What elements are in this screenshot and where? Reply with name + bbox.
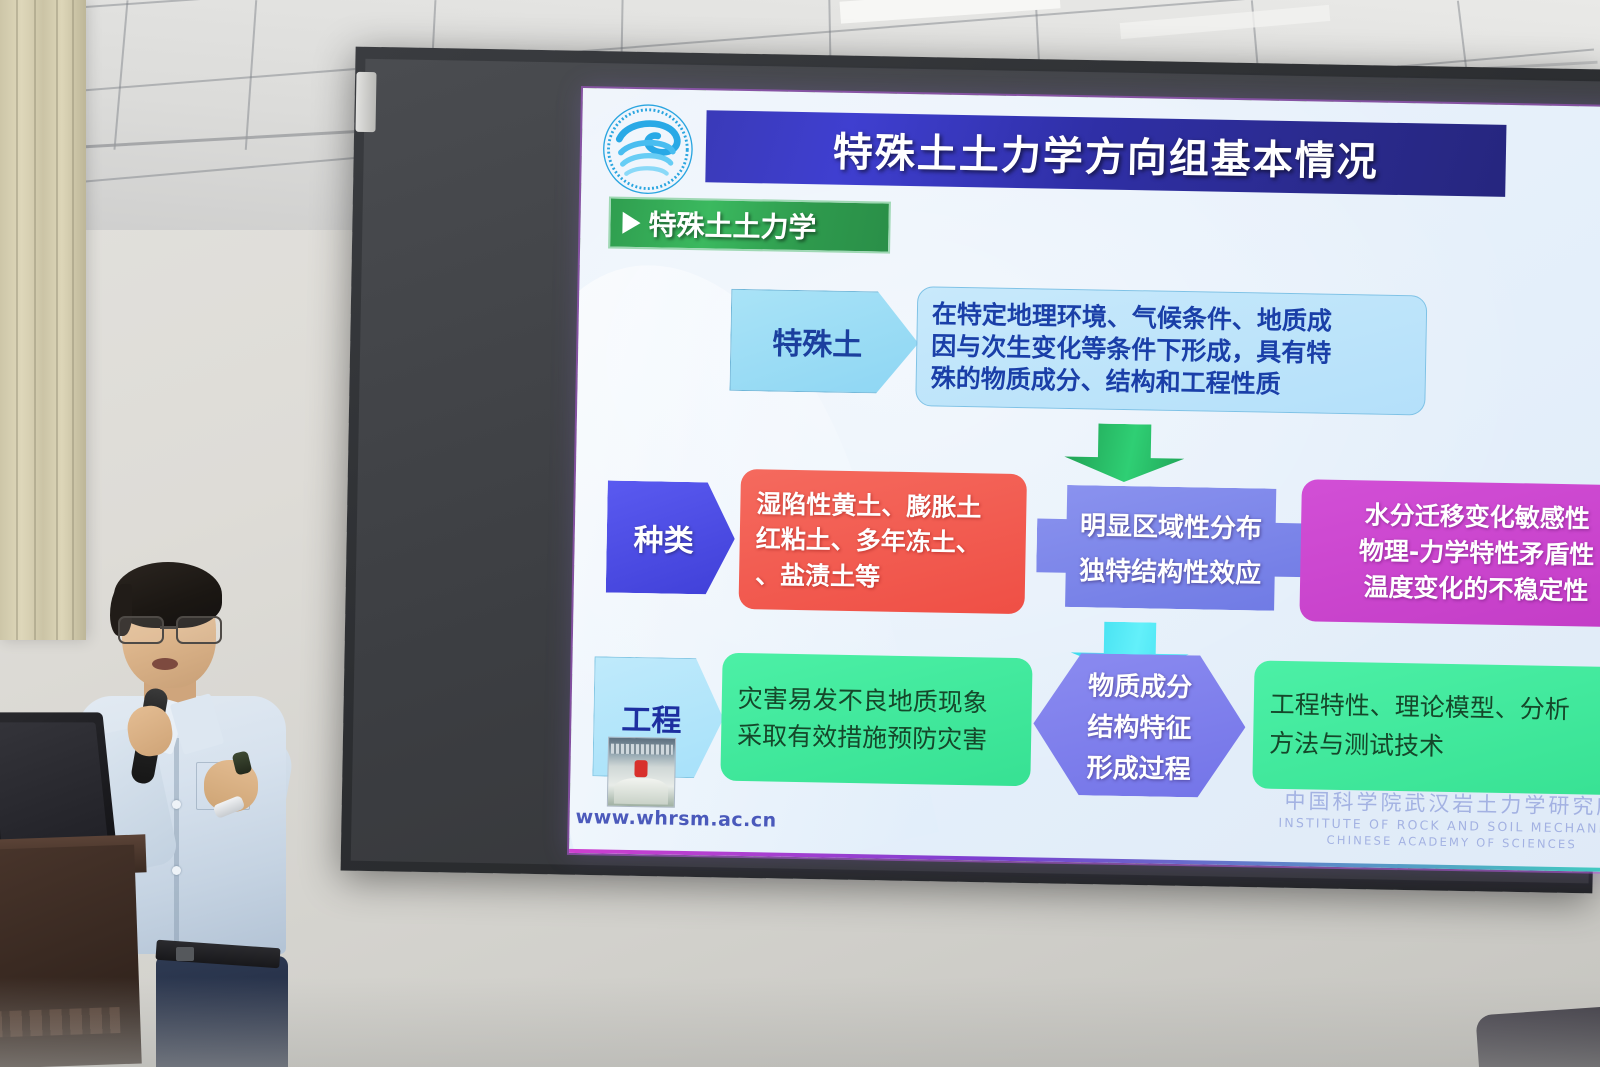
projected-slide: 特殊土土力学方向组基本情况 特殊土土力学 特殊土 在特定地理环境、气候条件、地质… — [569, 88, 1600, 872]
whrsm-swirl-logo — [599, 100, 697, 198]
slide-title-bar: 特殊土土力学方向组基本情况 — [705, 110, 1506, 197]
soil-types-line-1: 湿陷性黄土、膨胀土 — [756, 486, 982, 526]
sensitivity-line-3: 温度变化的不稳定性 — [1363, 570, 1589, 610]
shirt-button — [172, 800, 181, 809]
presenter-mouth — [152, 658, 178, 670]
distribution-plaque: 明显区域性分布 独特结构性效应 — [1036, 484, 1306, 611]
definition-box: 在特定地理环境、气候条件、地质成 因与次生变化等条件下形成，具有特 殊的物质成分… — [915, 286, 1427, 415]
soil-types-line-2: 红粘土、多年冻土、 — [755, 521, 981, 561]
screen-bracket — [355, 72, 376, 132]
composition-line-2: 结构特征 — [1087, 706, 1192, 745]
soil-types-box: 湿陷性黄土、膨胀土 红粘土、多年冻土、 、盐渍土等 — [738, 469, 1027, 614]
laptop-screen — [0, 722, 109, 851]
tag-special-soil-text: 特殊土 — [772, 319, 877, 365]
hazard-box: 灾害易发不良地质现象 采取有效措施预防灾害 — [720, 653, 1032, 787]
hazard-line-2: 采取有效措施预防灾害 — [737, 717, 988, 759]
slide-footer-url: www.whrsm.ac.cn — [575, 806, 776, 832]
institute-footer: 中国科学院武汉岩土力学研究所 INSTITUTE OF ROCK AND SOI… — [1278, 787, 1600, 854]
floor-shadow — [0, 977, 1600, 1067]
composition-line-1: 物质成分 — [1088, 665, 1193, 704]
slide-title: 特殊土土力学方向组基本情况 — [832, 120, 1379, 188]
section-label-text: 特殊土土力学 — [648, 203, 817, 246]
tag-types-text: 种类 — [633, 515, 708, 560]
methods-box: 工程特性、理论模型、分析 方法与测试技术 — [1252, 660, 1600, 795]
composition-line-3: 形成过程 — [1086, 747, 1191, 786]
slide-section-label: 特殊土土力学 — [608, 196, 891, 253]
window-curtain — [0, 0, 86, 640]
methods-line-1: 工程特性、理论模型、分析 — [1269, 686, 1570, 730]
soil-types-line-3: 、盐渍土等 — [755, 557, 881, 595]
sensitivity-line-2: 物理-力学特性矛盾性 — [1359, 533, 1595, 574]
shirt-button — [172, 866, 181, 875]
tag-types: 种类 — [606, 481, 736, 595]
methods-line-2: 方法与测试技术 — [1269, 725, 1445, 767]
sensitivity-box: 水分迁移变化敏感性 物理-力学特性矛盾性 温度变化的不稳定性 — [1299, 479, 1600, 627]
green-down-arrow — [1064, 423, 1185, 483]
presenter-glasses — [118, 616, 222, 640]
distribution-line-1: 明显区域性分布 — [1080, 505, 1263, 545]
hazard-line-1: 灾害易发不良地质现象 — [738, 679, 989, 721]
tag-special-soil: 特殊土 — [729, 289, 919, 394]
definition-line-3: 殊的物质成分、结构和工程性质 — [930, 362, 1281, 400]
belt-buckle — [176, 947, 194, 961]
tag-engineering-text: 工程 — [621, 695, 696, 740]
composition-hexagon: 物质成分 结构特征 形成过程 — [1032, 652, 1247, 798]
distribution-line-2: 独特结构性效应 — [1079, 550, 1262, 590]
sensitivity-line-1: 水分迁移变化敏感性 — [1364, 497, 1590, 537]
arrow-bullet-icon — [622, 212, 640, 234]
building-photo-thumbnail — [607, 737, 676, 808]
screenshot-stage: 特殊土土力学方向组基本情况 特殊土土力学 特殊土 在特定地理环境、气候条件、地质… — [0, 0, 1600, 1067]
